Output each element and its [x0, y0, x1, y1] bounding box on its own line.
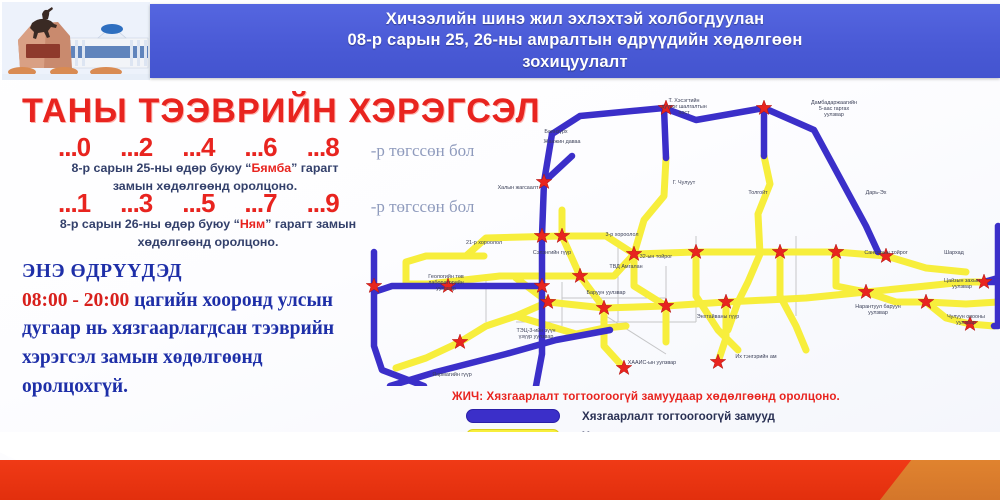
- map-label: ТВД Амгалан: [609, 264, 642, 270]
- map-label: 3-р хороолол: [605, 232, 638, 238]
- map-label: 21-р хороолол: [466, 240, 502, 246]
- plate-number: ...5: [182, 188, 214, 219]
- map-label: Дамбадаржаагийн5-аас гаргахуулзвар: [811, 99, 857, 118]
- plate-number: ...7: [244, 188, 276, 219]
- plate-number: ...3: [120, 188, 152, 219]
- sukhbaatar-square-monument-image: [2, 2, 150, 80]
- map-label: Халын жагсаалт: [498, 185, 539, 191]
- notice-heading: ЭНЭ ӨДРҮҮДЭД: [22, 258, 352, 287]
- plate-number: ...8: [307, 132, 339, 163]
- map-label: Сансарын тойрог: [864, 249, 907, 256]
- bottom-red-band: [0, 460, 1000, 500]
- even-desc-day: Бямба: [251, 161, 291, 175]
- map-label: Их тэнгэрийн ам: [735, 353, 776, 360]
- map-label: Т. Хэсэгтийндүүрэг шалгалтынпост: [661, 97, 707, 116]
- header-banner: Хичээлийн шинэ жил эхлэхтэй холбогдуулан…: [150, 4, 1000, 78]
- map-label: 32-ын тойрог: [640, 253, 673, 260]
- plate-number: ...4: [182, 132, 214, 163]
- odd-desc-part2: ” гарагт замын: [265, 217, 356, 231]
- legend-note: ЖИЧ: Хязгаарлалт тогтоогоогүй замуудаар …: [452, 390, 992, 403]
- legend-label-unrestricted: Хязгаарлалт тогтоогоогүй замууд: [582, 410, 775, 423]
- map-label: Яармагийн гүүр: [432, 371, 471, 378]
- map-label: Энхтайваны гүүр: [697, 313, 739, 320]
- map-label: ТЭЦ-3-ийн зүүнүзүүр уулзвар: [516, 327, 555, 340]
- checkpoint-star-group: [366, 100, 992, 375]
- plate-number: ...0: [58, 132, 90, 163]
- plate-number: ...9: [307, 188, 339, 219]
- map-label: Г. Чулуут: [673, 180, 696, 186]
- map-label: Толгойт: [748, 189, 768, 196]
- map-label: Жанжин даваа: [543, 139, 580, 145]
- odd-desc-line2: хөдөлгөөнд оролцоно.: [138, 235, 279, 249]
- even-desc-part2: ” гарагт: [291, 161, 338, 175]
- traffic-restriction-map: Т. Хэсэгтийндүүрэг шалгалтынпостДамбадар…: [366, 86, 1000, 386]
- map-label: Шархад: [944, 250, 965, 256]
- header-title-line1: Хичээлийн шинэ жил эхлэхтэй холбогдуулан: [347, 9, 802, 30]
- map-label: Дарь-Эх: [866, 190, 887, 196]
- odd-desc-part1: 8-р сарын 26-ны өдөр буюу “: [60, 217, 240, 231]
- notice-time-range: 08:00 - 20:00: [22, 290, 129, 311]
- header-title-line2: 08-р сарын 25, 26-ны амралтын өдрүүдийн …: [347, 30, 802, 51]
- poster-root: Хичээлийн шинэ жил эхлэхтэй холбогдуулан…: [0, 0, 1000, 500]
- map-label: Нарантуул баруунуулзвар: [855, 304, 901, 316]
- plate-number: ...1: [58, 188, 90, 219]
- header-title-line3: зохицуулалт: [347, 52, 802, 73]
- map-label: ХААИС-ын уулзвар: [628, 360, 676, 366]
- plate-number: ...6: [244, 132, 276, 163]
- even-desc-part1: 8-р сарын 25-ны өдөр буюу “: [71, 161, 251, 175]
- blue-line-swatch-icon: [466, 409, 560, 423]
- odd-day-description: 8-р сарын 26-ны өдөр буюу “Ням” гарагт з…: [18, 216, 398, 251]
- plate-number: ...2: [120, 132, 152, 163]
- map-label: Баянзүрх: [544, 129, 568, 135]
- header-title: Хичээлийн шинэ жил эхлэхтэй холбогдуулан…: [339, 9, 810, 72]
- restriction-notice: ЭНЭ ӨДРҮҮДЭД 08:00 - 20:00 цагийн хоорон…: [22, 258, 352, 401]
- map-label: Цайзын захынуулзвар: [944, 277, 980, 290]
- map-label: Баруун уулзвар: [586, 290, 625, 296]
- legend-item-unrestricted: Хязгаарлалт тогтоогоогүй замууд: [452, 409, 992, 423]
- map-label: Сэлэнгийн гүүр: [533, 249, 571, 256]
- odd-desc-day: Ням: [240, 217, 265, 231]
